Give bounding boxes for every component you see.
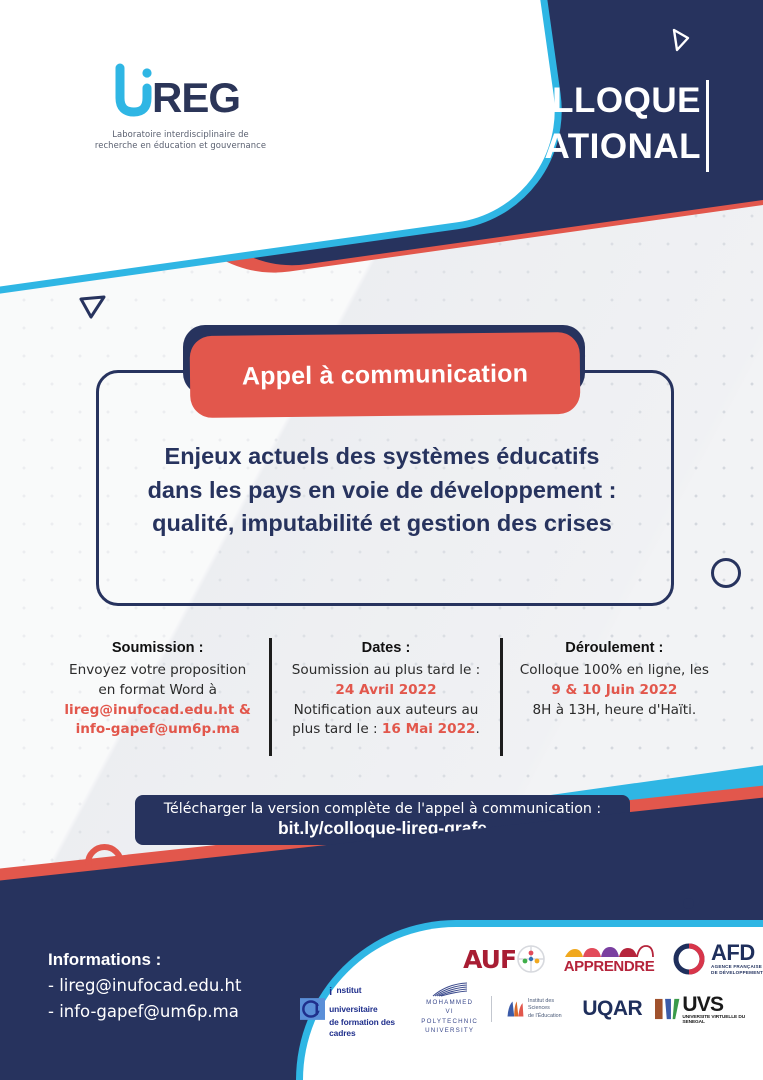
title-vertical-rule: [706, 80, 709, 172]
inufocad-label1: nstitut universitaire: [329, 985, 378, 1015]
contact-email-2: - info-gapef@um6p.ma: [48, 999, 241, 1025]
contact-information: Informations : - lireg@inufocad.edu.ht -…: [48, 950, 241, 1024]
dates-deadline-submission: 24 Avril 2022: [280, 681, 491, 701]
soumission-email2: info-gapef@um6p.ma: [54, 720, 261, 740]
deroulement-line1: Colloque 100% en ligne, les: [511, 661, 718, 681]
afd-label: AFD: [711, 942, 763, 964]
event-title-line1: COLLOQUE: [411, 78, 701, 124]
uvs-label: UVS: [682, 994, 755, 1015]
event-title-line2: INTERNATIONAL: [411, 124, 701, 170]
ise-book-icon: [505, 997, 525, 1021]
svg-text:REG: REG: [152, 74, 240, 121]
dates-line2: Notification aux auteurs au: [280, 701, 491, 721]
event-title: COLLOQUE INTERNATIONAL: [411, 78, 701, 170]
lireg-tagline-line2: recherche en éducation et gouvernance: [78, 140, 283, 151]
um6p-label2: POLYTECHNIC: [421, 1018, 478, 1027]
uvs-sub: UNIVERSITE VIRTUELLE DU SENEGAL: [682, 1015, 755, 1025]
partner-logo-ise: Institut des Sciences de l'Éducation: [505, 997, 569, 1021]
triangle-outline-navy-decoration: [76, 292, 110, 327]
deroulement-line2: 8H à 13H, heure d'Haïti.: [511, 701, 718, 721]
triangle-outline-white-decoration: [668, 26, 694, 59]
dates-line3: plus tard le : 16 Mai 2022.: [280, 720, 491, 740]
soumission-heading: Soumission :: [54, 638, 261, 659]
auf-globe-icon: [516, 944, 546, 974]
um6p-label3: UNIVERSITY: [425, 1027, 474, 1036]
poster-canvas: REG Laboratoire interdisciplinaire de re…: [0, 0, 763, 1080]
lireg-wordmark-icon: REG: [106, 62, 256, 124]
auf-label: AUF: [463, 945, 516, 974]
dates-line3-suffix: .: [476, 721, 480, 737]
partner-logo-uvs: UVS UNIVERSITE VIRTUELLE DU SENEGAL: [655, 994, 755, 1025]
ise-label2: de l'Éducation: [528, 1013, 569, 1020]
partner-logo-auf: AUF: [463, 944, 546, 974]
dates-deadline-notification: 16 Mai 2022: [382, 721, 476, 737]
dot-navy-decoration: [683, 898, 694, 909]
column-dates: Dates : Soumission au plus tard le : 24 …: [269, 638, 502, 756]
conference-theme-line2: dans les pays en voie de développement :: [100, 474, 664, 508]
deroulement-dates: 9 & 10 Juin 2022: [511, 681, 718, 701]
column-deroulement: Déroulement : Colloque 100% en ligne, le…: [503, 638, 726, 756]
partner-logo-inufocad: i nstitut universitaire de formation des…: [300, 980, 408, 1039]
partner-logo-apprendre: APPRENDRE: [561, 944, 657, 975]
ise-label1: Institut des Sciences: [528, 998, 569, 1013]
uvs-mark-icon: [655, 996, 680, 1022]
lireg-tagline-line1: Laboratoire interdisciplinaire de: [78, 129, 283, 140]
soumission-line1: Envoyez votre proposition: [54, 661, 261, 681]
partner-logo-row-1: AUF APPRENDRE: [300, 934, 763, 984]
afd-circle-icon: [672, 942, 706, 976]
conference-theme-line1: Enjeux actuels des systèmes éducatifs: [100, 440, 664, 474]
contact-heading: Informations :: [48, 950, 241, 970]
inufocad-label2: de formation des cadres: [329, 1017, 408, 1038]
logo-divider: [491, 996, 492, 1022]
partner-logo-row-2: i nstitut universitaire de formation des…: [300, 984, 763, 1034]
dates-line1: Soumission au plus tard le :: [280, 661, 491, 681]
column-soumission: Soumission : Envoyez votre proposition e…: [46, 638, 269, 756]
soumission-email1: lireg@inufocad.edu.ht &: [54, 701, 261, 721]
lireg-logo-mark: REG: [78, 62, 283, 124]
download-banner-label: Télécharger la version complète de l'app…: [164, 801, 601, 817]
contact-email-1: - lireg@inufocad.edu.ht: [48, 973, 241, 999]
afd-sub2: DE DÉVELOPPEMENT: [711, 970, 763, 976]
apprendre-arc-icon: [561, 944, 657, 958]
info-columns: Soumission : Envoyez votre proposition e…: [46, 638, 726, 756]
dates-line3-prefix: plus tard le :: [292, 721, 382, 737]
inufocad-mark-icon: [300, 996, 325, 1022]
uqar-label: UQAR: [582, 997, 642, 1021]
dates-heading: Dates :: [280, 638, 491, 659]
partner-logos: AUF APPRENDRE: [300, 934, 763, 1034]
um6p-label1: MOHAMMED VI: [421, 999, 478, 1016]
call-for-papers-pill: Appel à communication: [190, 332, 581, 418]
partner-logo-um6p: MOHAMMED VI POLYTECHNIC UNIVERSITY: [421, 982, 478, 1036]
deroulement-heading: Déroulement :: [511, 638, 718, 659]
conference-theme-line3: qualité, imputabilité et gestion des cri…: [100, 507, 664, 541]
conference-theme: Enjeux actuels des systèmes éducatifs da…: [100, 440, 664, 541]
call-for-papers-label: Appel à communication: [242, 359, 528, 391]
circle-outline-navy-decoration: [711, 558, 741, 588]
soumission-line2: en format Word à: [54, 681, 261, 701]
lireg-logo: REG Laboratoire interdisciplinaire de re…: [78, 62, 283, 152]
partner-logo-afd: AFD AGENCE FRANÇAISE DE DÉVELOPPEMENT: [672, 942, 763, 976]
partner-logo-uqar: UQAR: [582, 997, 642, 1021]
apprendre-label: APPRENDRE: [564, 958, 655, 975]
um6p-wing-icon: [431, 982, 469, 998]
inufocad-i-glyph: i: [329, 986, 332, 1000]
